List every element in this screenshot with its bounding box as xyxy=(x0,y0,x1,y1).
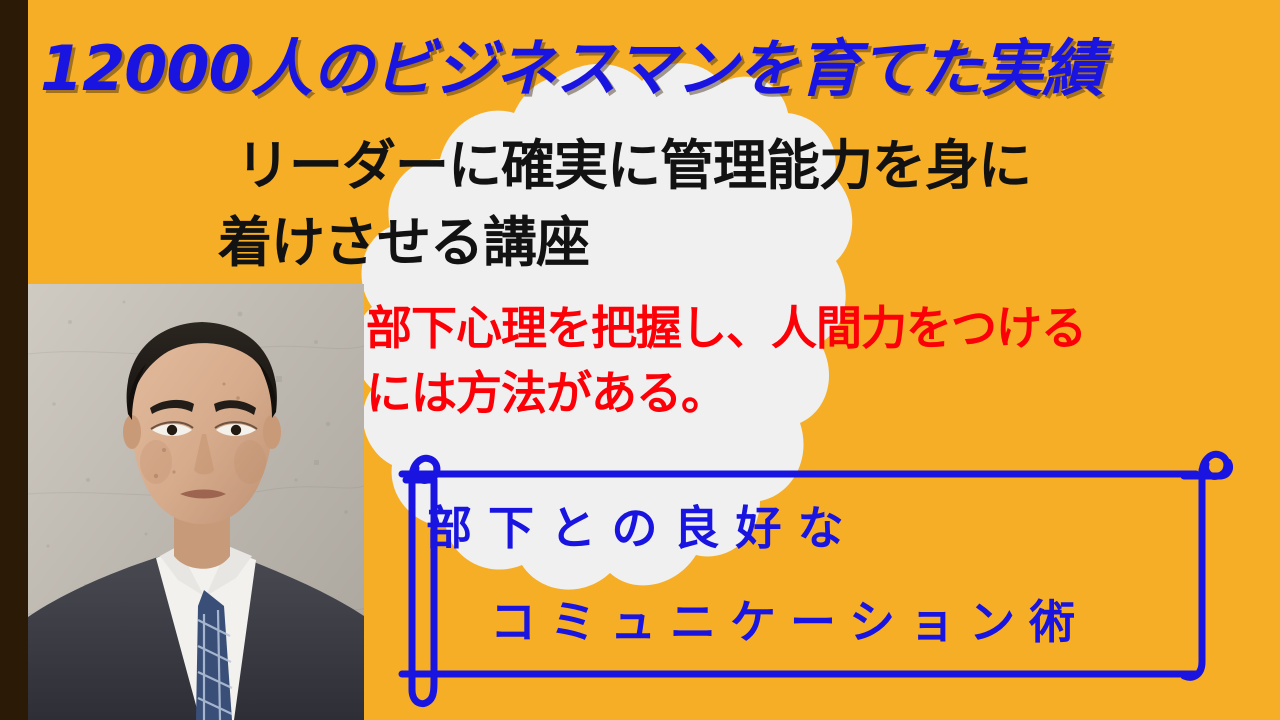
subtitle-black-line2: 着けさせる講座 xyxy=(218,205,1246,282)
left-dark-band xyxy=(0,0,28,720)
subtitle-black: リーダーに確実に管理能力を身に 着けさせる講座 xyxy=(236,128,1246,281)
subtitle-red: 部下心理を把握し、人間力をつける には方法がある。 xyxy=(366,296,1266,427)
subtitle-red-line1: 部下心理を把握し、人間力をつける xyxy=(366,301,1086,355)
subtitle-red-line2: には方法がある。 xyxy=(366,366,726,420)
scroll-banner: 部下との良好な コミュニケーション術 xyxy=(378,440,1248,720)
headline: 12000人のビジネスマンを育てた実績 xyxy=(40,36,1280,101)
slide-root: 12000人のビジネスマンを育てた実績 リーダーに確実に管理能力を身に 着けさせ… xyxy=(0,0,1280,720)
subtitle-black-line1: リーダーに確実に管理能力を身に xyxy=(236,134,1031,197)
portrait-photo xyxy=(28,284,364,720)
